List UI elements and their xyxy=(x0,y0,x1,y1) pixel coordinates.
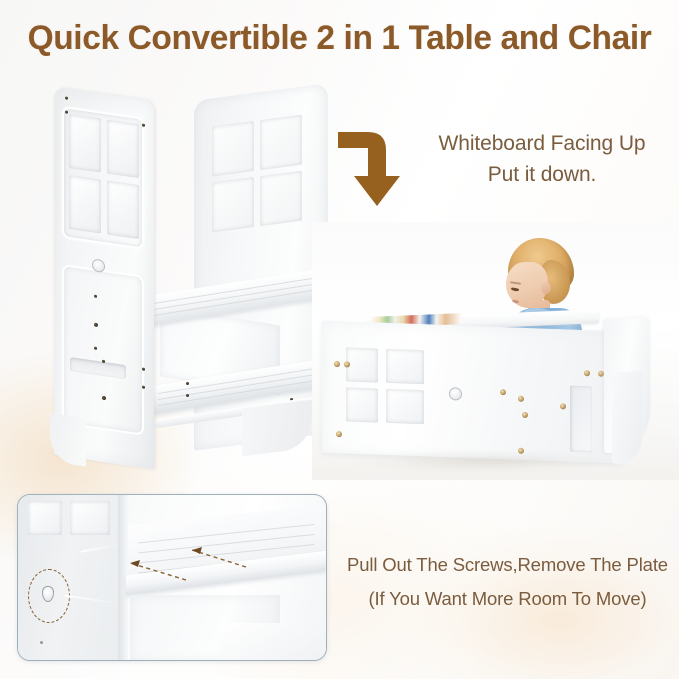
tower-left-front-panel xyxy=(54,87,154,469)
screw-icon xyxy=(102,360,105,363)
callout-pull-out-screws: Pull Out The Screws,Remove The Plate (If… xyxy=(336,548,679,616)
screw-icon xyxy=(94,323,98,328)
product-photo-tower-upright xyxy=(42,86,334,478)
callout-line-1: Pull Out The Screws,Remove The Plate xyxy=(347,554,668,575)
tower-lower-recessed-panel xyxy=(62,264,144,436)
knob-icon xyxy=(449,387,462,400)
inset-photo-screw-closeup xyxy=(17,494,327,661)
screw-icon xyxy=(102,396,106,401)
screw-icon xyxy=(344,361,350,367)
tower-right-window-frame xyxy=(208,110,308,241)
screw-icon xyxy=(560,403,566,409)
screw-icon xyxy=(65,96,68,99)
table-panel-notch xyxy=(570,386,592,453)
screw-icon xyxy=(518,396,524,402)
tower-left-window-frame xyxy=(62,106,144,250)
child-ear xyxy=(541,282,551,294)
screw-icon xyxy=(94,295,97,298)
screw-icon xyxy=(584,370,590,376)
tower-right-foot xyxy=(242,400,312,457)
page-title: Quick Convertible 2 in 1 Table and Chair xyxy=(5,18,674,58)
screw-icon xyxy=(65,110,68,113)
tower-left-foot xyxy=(50,413,86,466)
dashed-arrow-icon xyxy=(18,495,327,661)
screw-icon xyxy=(186,394,189,397)
screw-icon xyxy=(94,347,97,350)
callout-whiteboard-facing-up: Whiteboard Facing Up Put it down. xyxy=(405,128,679,190)
table-floor-shadow xyxy=(322,448,642,480)
table-front-panel xyxy=(322,320,622,463)
screw-icon xyxy=(500,389,506,395)
screw-icon xyxy=(522,412,528,418)
callout-line-1: Whiteboard Facing Up xyxy=(439,132,646,155)
screw-icon xyxy=(186,382,189,385)
screw-icon xyxy=(334,361,340,367)
product-photo-table-with-child xyxy=(312,222,679,480)
screw-icon xyxy=(142,385,145,388)
screw-icon xyxy=(142,367,145,370)
screw-icon xyxy=(336,431,342,437)
callout-line-2: (If You Want More Room To Move) xyxy=(336,582,679,616)
callout-line-2: Put it down. xyxy=(405,159,679,190)
infographic-page: Quick Convertible 2 in 1 Table and Chair xyxy=(0,0,679,679)
screw-icon xyxy=(142,123,145,126)
